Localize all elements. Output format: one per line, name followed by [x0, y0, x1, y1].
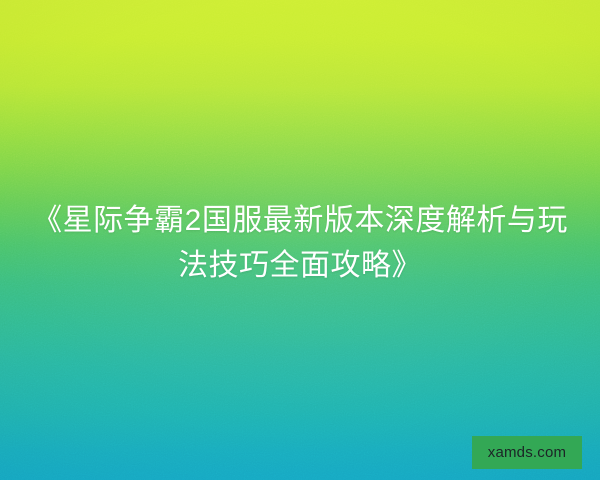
page-title: 《星际争霸2国服最新版本深度解析与玩法技巧全面攻略》: [32, 198, 568, 288]
poster-canvas: 《星际争霸2国服最新版本深度解析与玩法技巧全面攻略》 xamds.com: [0, 0, 600, 480]
watermark-badge: xamds.com: [472, 436, 582, 469]
poster-title-block: 《星际争霸2国服最新版本深度解析与玩法技巧全面攻略》: [0, 198, 600, 288]
watermark-label: xamds.com: [488, 445, 567, 460]
